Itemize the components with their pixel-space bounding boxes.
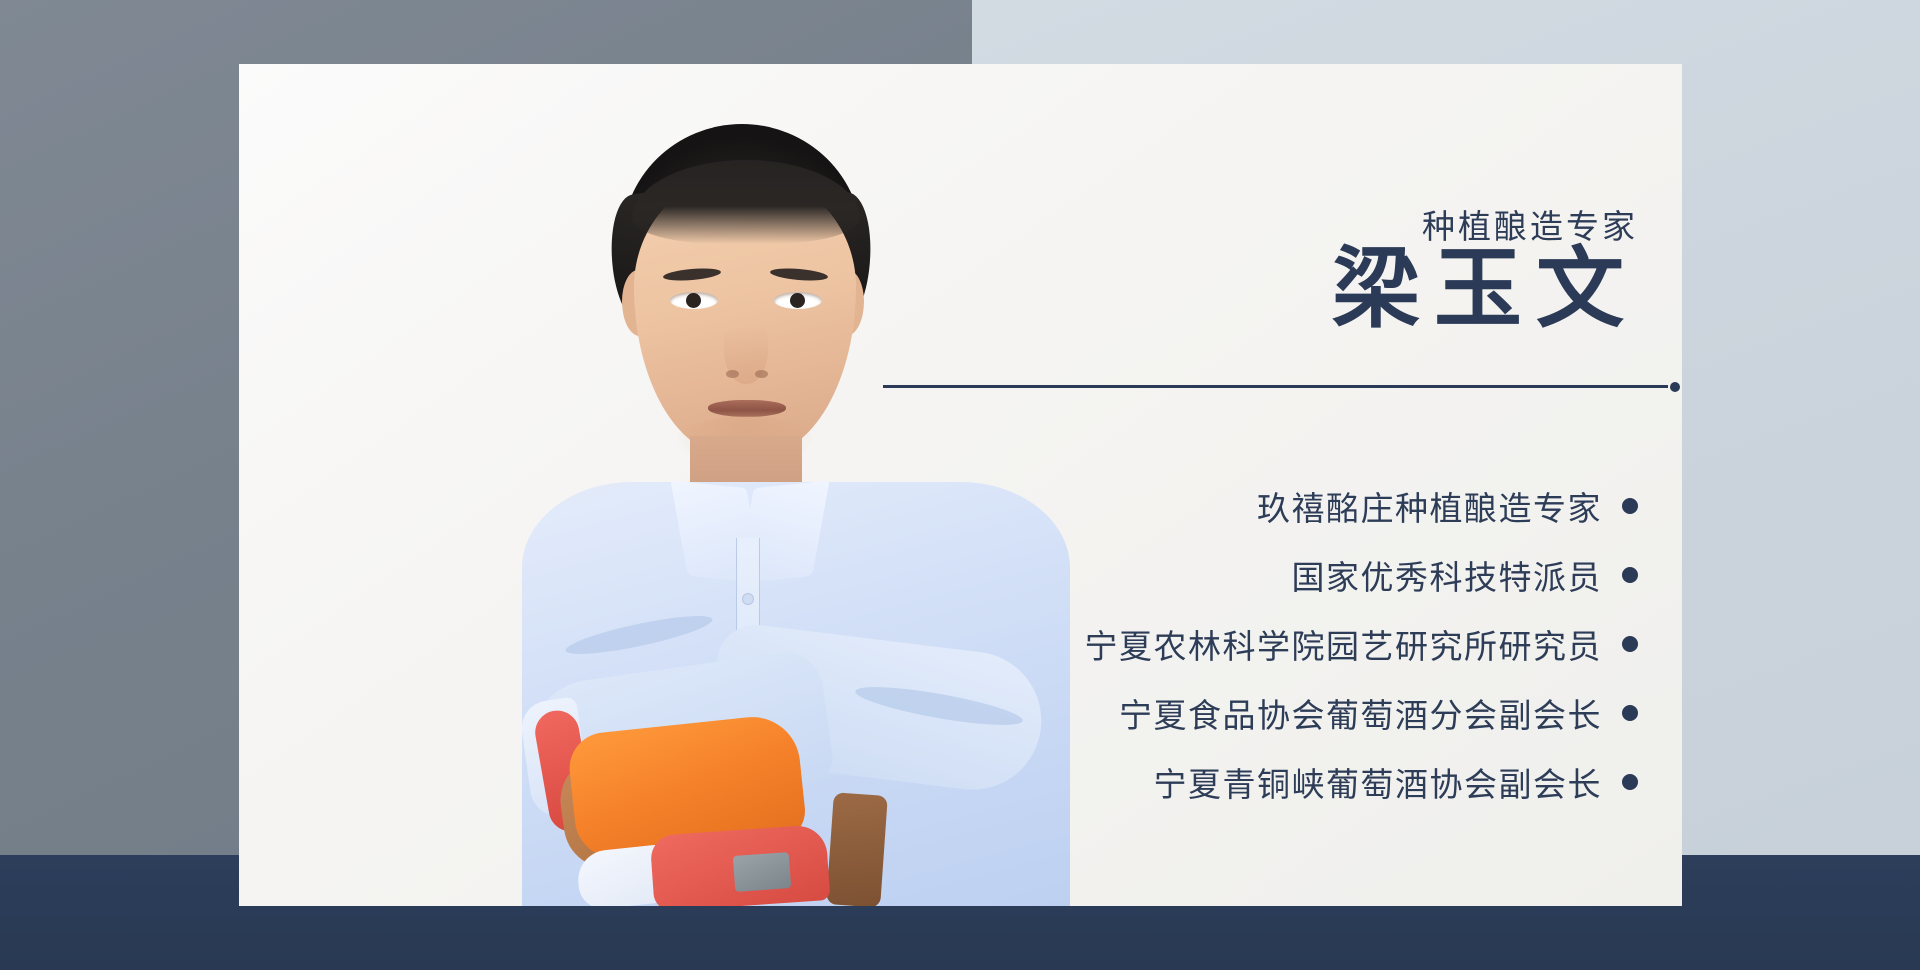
portrait-glove-tag [733,852,791,892]
list-item: 国家优秀科技特派员 [1292,551,1639,599]
portrait-belt [826,792,888,906]
portrait-pupil-right [790,293,805,308]
divider-dot-icon [1670,382,1680,392]
portrait-nostril-right [755,370,768,378]
credential-list: 玖禧酩庄种植酿造专家 国家优秀科技特派员 宁夏农林科学院园艺研究所研究员 宁夏食… [1018,482,1638,806]
list-item: 宁夏农林科学院园艺研究所研究员 [1085,620,1639,668]
portrait-mouth [708,400,786,417]
credential-label: 宁夏食品协会葡萄酒分会副会长 [1119,689,1602,737]
bullet-dot-icon [1622,498,1638,514]
credential-label: 宁夏农林科学院园艺研究所研究员 [1085,620,1603,668]
divider-line [883,385,1668,388]
profile-banner: 种植酿造专家 梁玉文 玖禧酩庄种植酿造专家 国家优秀科技特派员 宁夏农林科学院园… [0,0,1920,970]
bullet-dot-icon [1622,636,1638,652]
profile-card: 种植酿造专家 梁玉文 玖禧酩庄种植酿造专家 国家优秀科技特派员 宁夏农林科学院园… [239,64,1682,906]
divider [883,382,1680,392]
credential-label: 国家优秀科技特派员 [1292,551,1603,599]
bullet-dot-icon [1622,774,1638,790]
portrait-shirt-button [743,594,753,604]
portrait-pupil-left [686,293,701,308]
bullet-dot-icon [1622,567,1638,583]
list-item: 宁夏食品协会葡萄酒分会副会长 [1119,689,1638,737]
credential-label: 宁夏青铜峡葡萄酒协会副会长 [1154,758,1603,806]
profile-text-panel: 种植酿造专家 梁玉文 玖禧酩庄种植酿造专家 国家优秀科技特派员 宁夏农林科学院园… [999,64,1682,906]
credential-label: 玖禧酩庄种植酿造专家 [1257,482,1602,530]
portrait-nostril-left [726,370,739,378]
bullet-dot-icon [1622,705,1638,721]
profile-name: 梁玉文 [1332,242,1638,341]
list-item: 玖禧酩庄种植酿造专家 [1257,482,1638,530]
profile-subtitle: 种植酿造专家 [1422,200,1638,248]
list-item: 宁夏青铜峡葡萄酒协会副会长 [1154,758,1639,806]
